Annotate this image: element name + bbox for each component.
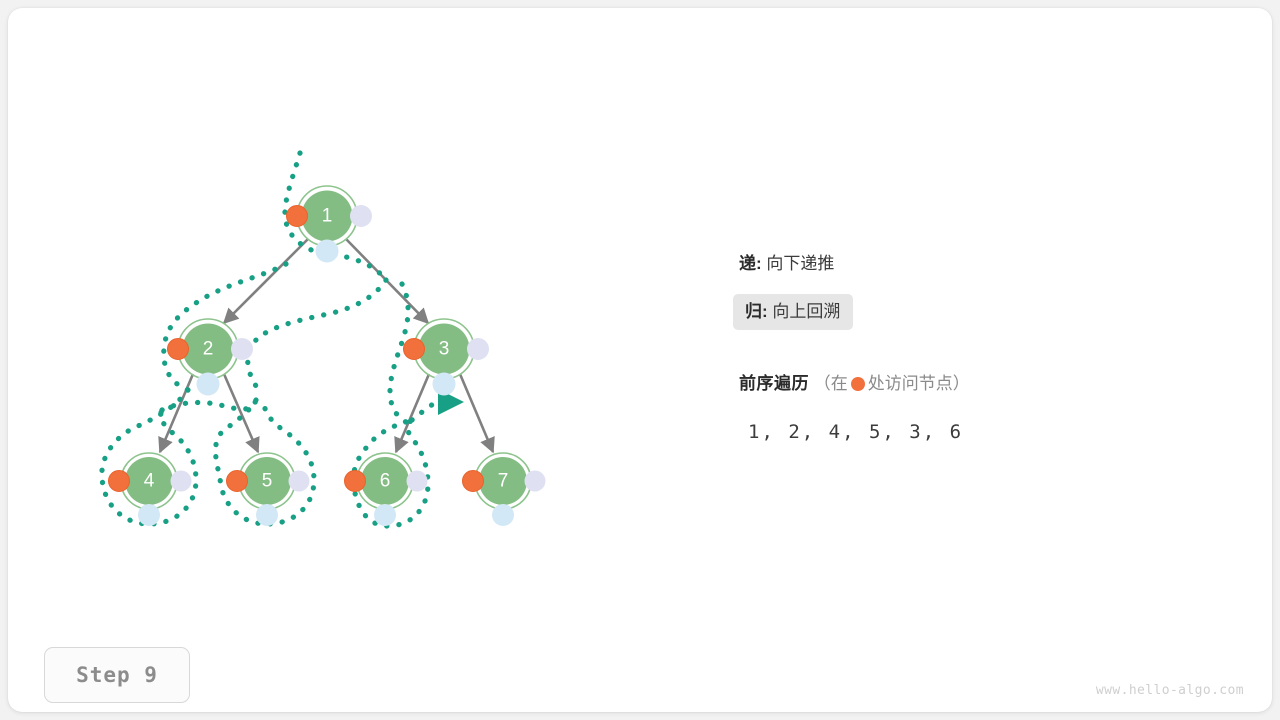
path-node2-right xyxy=(248,280,386,386)
node-2-post-dot xyxy=(231,338,253,360)
node-5-post-dot xyxy=(289,471,310,492)
node-6-post-dot xyxy=(407,471,428,492)
traversal-title: 前序遍历 （在处访问节点） xyxy=(739,375,970,392)
path-node4-to-node5 xyxy=(162,400,256,410)
traversal-note-prefix: （在 xyxy=(814,374,848,393)
node-2-in-dot xyxy=(197,373,220,396)
node-1-post-dot xyxy=(350,205,372,227)
node-5-pre-dot xyxy=(227,471,248,492)
path-to-node2 xyxy=(164,264,286,390)
node-7-post-dot xyxy=(525,471,546,492)
node-1-in-dot xyxy=(316,240,339,263)
tree-node-2[interactable]: 2 xyxy=(168,319,254,396)
node-6-pre-dot xyxy=(345,471,366,492)
node-1-label: 1 xyxy=(322,206,333,227)
edge-3-7 xyxy=(460,374,493,452)
tree-node-3[interactable]: 3 xyxy=(404,319,490,396)
node-7-in-dot xyxy=(492,504,514,526)
node-3-label: 3 xyxy=(439,339,450,360)
step-badge: Step 9 xyxy=(44,647,190,703)
node-5-label: 5 xyxy=(262,471,273,492)
edge-1-2 xyxy=(224,239,308,323)
tree-node-6[interactable]: 6 xyxy=(345,453,428,526)
node-4-label: 4 xyxy=(144,471,155,492)
traversal-name: 前序遍历 xyxy=(739,374,809,393)
legend-return: 归: 向上回溯 xyxy=(745,303,840,320)
preorder-marker-dot-icon xyxy=(851,377,865,391)
node-2-label: 2 xyxy=(203,339,214,360)
tree-node-5[interactable]: 5 xyxy=(227,453,310,526)
legend-recursion: 递: 向下递推 xyxy=(739,255,834,272)
node-7-pre-dot xyxy=(463,471,484,492)
node-4-in-dot xyxy=(138,504,160,526)
legend-return-highlight: 归: 向上回溯 xyxy=(733,294,853,330)
legend-return-value: 向上回溯 xyxy=(772,302,840,321)
binary-tree-figure: 1 2 3 xyxy=(8,8,1272,712)
node-3-in-dot xyxy=(433,373,456,396)
node-4-pre-dot xyxy=(109,471,130,492)
node-1-pre-dot xyxy=(287,206,308,227)
node-3-pre-dot xyxy=(404,339,425,360)
node-6-in-dot xyxy=(374,504,396,526)
legend-recursion-key: 递: xyxy=(739,254,762,273)
node-5-in-dot xyxy=(256,504,278,526)
traversal-sequence: 1, 2, 4, 5, 3, 6 xyxy=(748,421,963,443)
diagram-card: 1 2 3 xyxy=(8,8,1272,712)
step-label: Step 9 xyxy=(76,663,158,687)
node-3-post-dot xyxy=(467,338,489,360)
legend-return-key: 归: xyxy=(745,302,768,321)
edge-2-5 xyxy=(224,374,258,452)
tree-nodes: 1 2 3 xyxy=(109,186,546,526)
node-2-pre-dot xyxy=(168,339,189,360)
node-6-label: 6 xyxy=(380,471,391,492)
legend-recursion-value: 向下递推 xyxy=(766,254,834,273)
diagram-stage: 1 2 3 xyxy=(8,8,1272,712)
node-7-label: 7 xyxy=(498,471,509,492)
node-4-post-dot xyxy=(171,471,192,492)
traversal-note-suffix: 处访问节点） xyxy=(868,374,970,393)
watermark: www.hello-algo.com xyxy=(1096,683,1244,698)
tree-node-7[interactable]: 7 xyxy=(463,453,546,526)
